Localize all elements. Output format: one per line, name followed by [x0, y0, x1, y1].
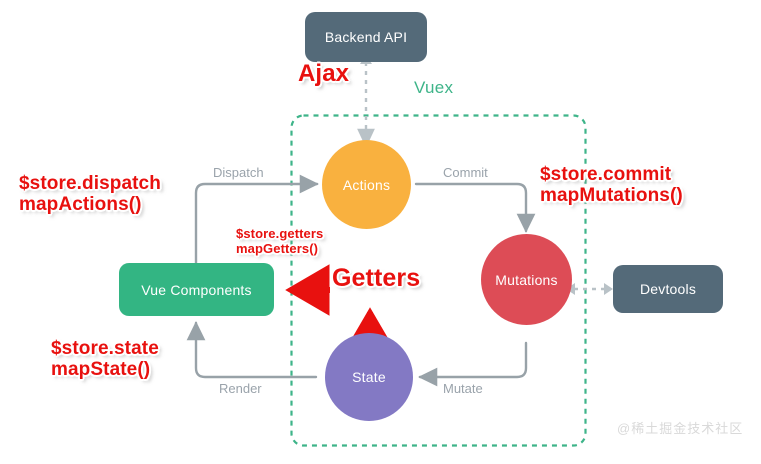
edge-label-commit: Commit	[443, 165, 488, 180]
annotation-dispatch-api: $store.dispatch mapActions()	[19, 173, 161, 216]
vuex-container-label: Vuex	[414, 78, 453, 98]
annotation-commit-api-line-2: mapMutations()	[540, 185, 683, 206]
node-mutations[interactable]: Mutations	[481, 234, 572, 325]
node-vue-components-label: Vue Components	[141, 282, 251, 298]
annotation-commit-api-line-1: $store.commit	[540, 164, 683, 185]
node-devtools[interactable]: Devtools	[613, 265, 723, 313]
edge-commit	[416, 184, 526, 231]
edge-label-mutate: Mutate	[443, 381, 483, 396]
annotation-state-api: $store.state mapState()	[51, 338, 159, 381]
diagram-canvas: Backend API Devtools Vue Components Acti…	[0, 0, 761, 464]
node-state-label: State	[352, 369, 386, 385]
edge-render	[196, 323, 316, 377]
annotation-getters-api: $store.getters mapGetters()	[236, 227, 323, 256]
node-backend-api[interactable]: Backend API	[305, 12, 427, 62]
annotation-getters-api-line-1: $store.getters	[236, 227, 323, 242]
annotation-ajax: Ajax	[298, 61, 349, 88]
annotation-state-api-line-1: $store.state	[51, 338, 159, 359]
node-backend-api-label: Backend API	[325, 29, 407, 45]
annotation-state-api-line-2: mapState()	[51, 359, 159, 380]
node-vue-components[interactable]: Vue Components	[119, 263, 274, 316]
node-actions-label: Actions	[343, 177, 390, 193]
annotation-ajax-line-1: Ajax	[298, 61, 349, 88]
annotation-dispatch-api-line-2: mapActions()	[19, 194, 161, 215]
annotation-getters: Getters	[332, 264, 420, 292]
edge-devtools-arrowhead-right	[604, 283, 613, 295]
annotation-getters-line-1: Getters	[332, 264, 420, 292]
annotation-getters-api-line-2: mapGetters()	[236, 242, 323, 257]
node-state[interactable]: State	[325, 333, 413, 421]
edge-label-dispatch: Dispatch	[213, 165, 264, 180]
annotation-dispatch-api-line-1: $store.dispatch	[19, 173, 161, 194]
node-devtools-label: Devtools	[640, 281, 696, 297]
watermark: @稀土掘金技术社区	[617, 418, 743, 437]
annotation-commit-api: $store.commit mapMutations()	[540, 164, 683, 207]
edge-mutate	[420, 343, 526, 377]
node-actions[interactable]: Actions	[322, 140, 411, 229]
node-mutations-label: Mutations	[495, 272, 558, 288]
edge-label-render: Render	[219, 381, 262, 396]
